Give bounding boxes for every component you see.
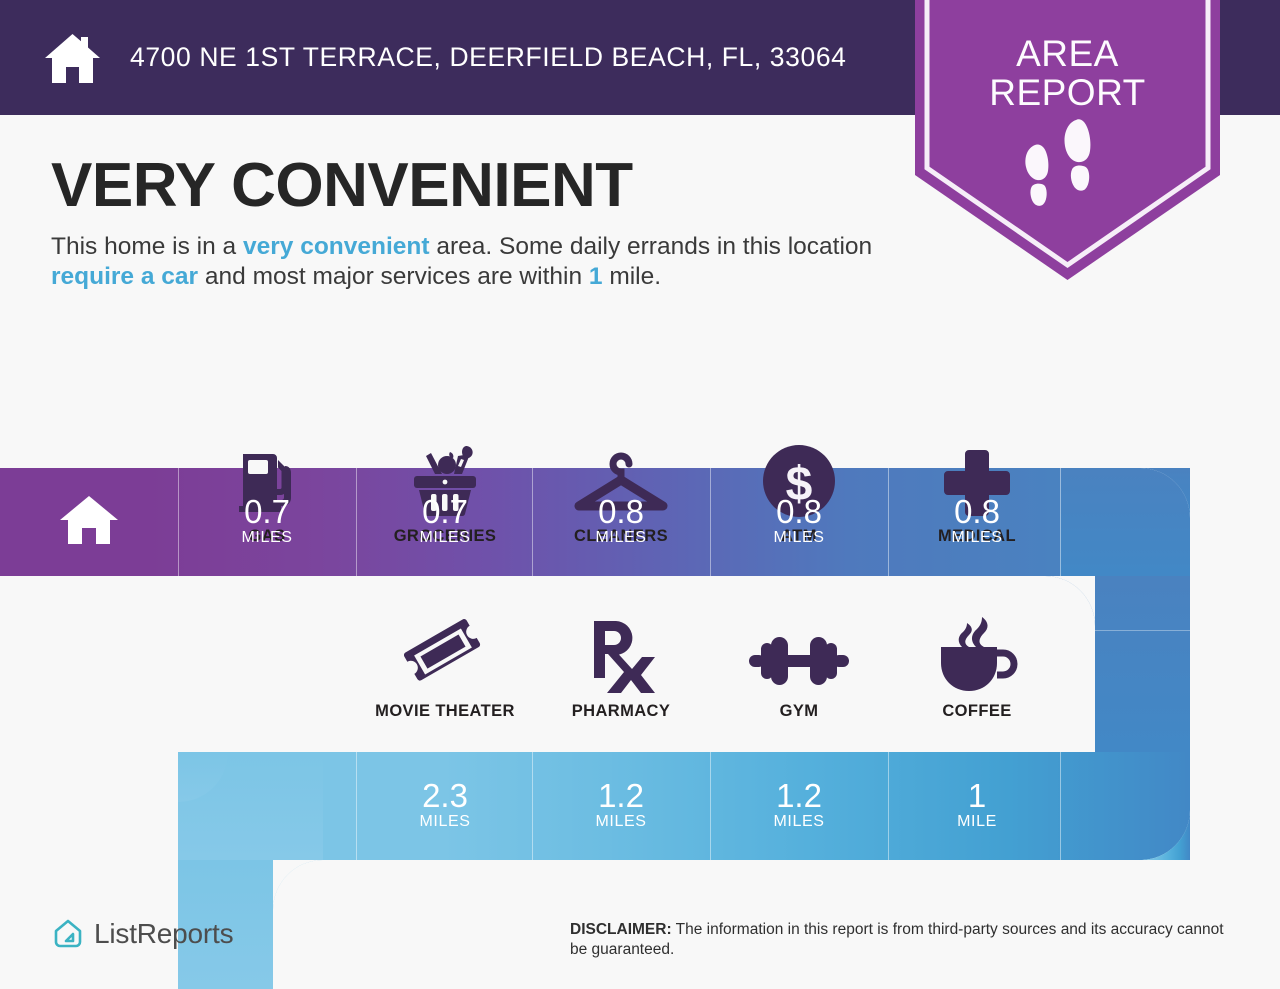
property-address: 4700 NE 1ST TERRACE, DEERFIELD BEACH, FL… [130,42,847,73]
disclaimer-label: DISCLAIMER: [570,921,672,938]
listreports-house-icon [52,918,84,950]
unit-coffee: MILE [888,813,1066,831]
disclaimer: DISCLAIMER: The information in this repo… [570,920,1230,960]
divider [710,752,711,860]
area-report-badge: AREA REPORT [915,0,1220,280]
summary-highlight-3: 1 [589,263,603,290]
movie-ticket-icon [356,615,534,693]
unit-movie-theater: MILES [356,813,534,831]
value-atm: 0.8 [710,495,888,529]
label-cell-movie-theater: MOVIE THEATER [356,615,534,721]
value-cell-gas: 0.7 MILES [178,495,356,547]
label-gym: GYM [710,702,888,721]
dumbbell-icon [710,615,888,693]
value-cell-coffee: 1 MILE [888,779,1066,831]
coffee-cup-icon [888,615,1066,693]
distance-chart: GAS [0,440,1280,989]
page-title: VERY CONVENIENT [51,155,633,217]
unit-atm: MILES [710,529,888,547]
home-marker-cell [0,468,178,576]
value-groceries: 0.7 [356,495,534,529]
divider [1095,630,1190,631]
divider [1060,752,1061,860]
value-cell-medical: 0.8 MILES [888,495,1066,547]
value-coffee: 1 [888,779,1066,813]
value-cell-groceries: 0.7 MILES [356,495,534,547]
value-gas: 0.7 [178,495,356,529]
divider [356,752,357,860]
summary-part-2: area. Some daily errands in this locatio… [430,233,873,260]
divider [710,468,711,576]
unit-groceries: MILES [356,529,534,547]
summary-part-4: mile. [603,263,662,290]
infographic-page: 4700 NE 1ST TERRACE, DEERFIELD BEACH, FL… [0,0,1280,989]
divider [888,752,889,860]
unit-cleaners: MILES [532,529,710,547]
home-icon [42,31,106,85]
rx-icon [532,615,710,693]
value-movie-theater: 2.3 [356,779,534,813]
value-cell-gym: 1.2 MILES [710,779,888,831]
value-cell-atm: 0.8 MILES [710,495,888,547]
value-cell-movie-theater: 2.3 MILES [356,779,534,831]
divider [1060,468,1061,576]
summary-highlight-2: require a car [51,263,198,290]
value-medical: 0.8 [888,495,1066,529]
summary-highlight-1: very convenient [243,233,430,260]
header-content: 4700 NE 1ST TERRACE, DEERFIELD BEACH, FL… [42,0,847,115]
unit-gas: MILES [178,529,356,547]
value-cell-cleaners: 0.8 MILES [532,495,710,547]
label-cell-gym: GYM [710,615,888,721]
listreports-logo: ListReports [52,918,233,950]
divider [532,468,533,576]
label-movie-theater: MOVIE THEATER [356,702,534,721]
unit-gym: MILES [710,813,888,831]
label-coffee: COFFEE [888,702,1066,721]
divider [356,468,357,576]
divider [178,468,179,576]
listreports-wordmark: ListReports [94,918,233,950]
summary-part-1: This home is in a [51,233,243,260]
badge-label: AREA REPORT [915,34,1220,112]
unit-medical: MILES [888,529,1066,547]
value-cleaners: 0.8 [532,495,710,529]
value-cell-pharmacy: 1.2 MILES [532,779,710,831]
badge-line-1: AREA [915,34,1220,73]
label-cell-pharmacy: PHARMACY [532,615,710,721]
badge-line-2: REPORT [915,73,1220,112]
label-pharmacy: PHARMACY [532,702,710,721]
label-cell-coffee: COFFEE [888,615,1066,721]
divider [888,468,889,576]
unit-pharmacy: MILES [532,813,710,831]
home-icon [58,494,120,551]
value-pharmacy: 1.2 [532,779,710,813]
value-gym: 1.2 [710,779,888,813]
summary-part-3: and most major services are within [198,263,589,290]
divider [532,752,533,860]
summary-text: This home is in a very convenient area. … [51,232,911,292]
